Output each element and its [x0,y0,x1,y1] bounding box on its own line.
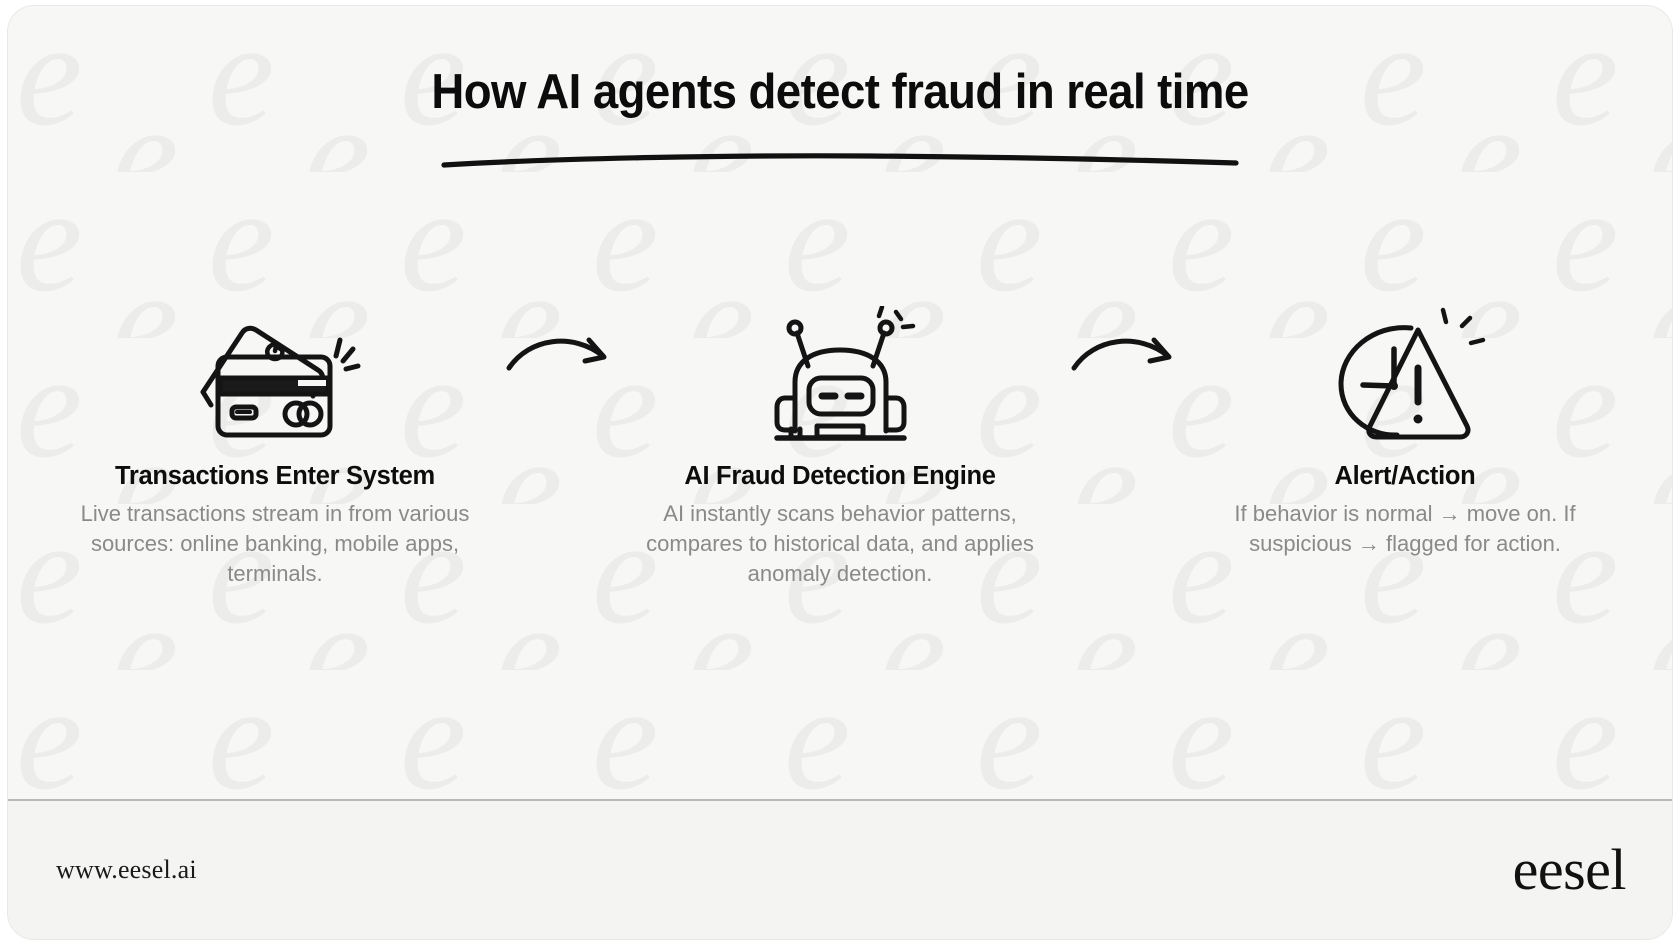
robot-icon [753,306,928,446]
step-title: AI Fraud Detection Engine [684,462,995,490]
step-transactions-enter-system: Transactions Enter System Live transacti… [65,306,485,589]
curved-arrow-right-icon [485,306,630,388]
clock-warning-icon [1315,306,1495,446]
infographic-canvas: e e e How AI agents detect fraud in real… [0,0,1680,945]
steps-row: Transactions Enter System Live transacti… [38,306,1642,589]
step-title: Alert/Action [1335,462,1476,490]
credit-cards-icon [180,306,370,446]
footer-website-url[interactable]: www.eesel.ai [56,855,197,885]
step-title: Transactions Enter System [115,462,435,490]
curved-arrow-right-icon [1050,306,1195,388]
eesel-logo: eesel [1513,841,1626,899]
step-description: Live transactions stream in from various… [75,499,475,589]
infographic-card: e e e How AI agents detect fraud in real… [8,6,1672,939]
step-description: AI instantly scans behavior patterns, co… [640,499,1040,589]
step-description: If behavior is normal → move on. If susp… [1205,499,1605,559]
page-title: How AI agents detect fraud in real time [66,64,1614,120]
step-alert-action: Alert/Action If behavior is normal → mov… [1195,306,1615,559]
title-underline [8,148,1672,170]
footer-bar: www.eesel.ai eesel [8,799,1672,939]
content-area: How AI agents detect fraud in real time [8,6,1672,799]
step-ai-fraud-detection-engine: AI Fraud Detection Engine AI instantly s… [630,306,1050,589]
